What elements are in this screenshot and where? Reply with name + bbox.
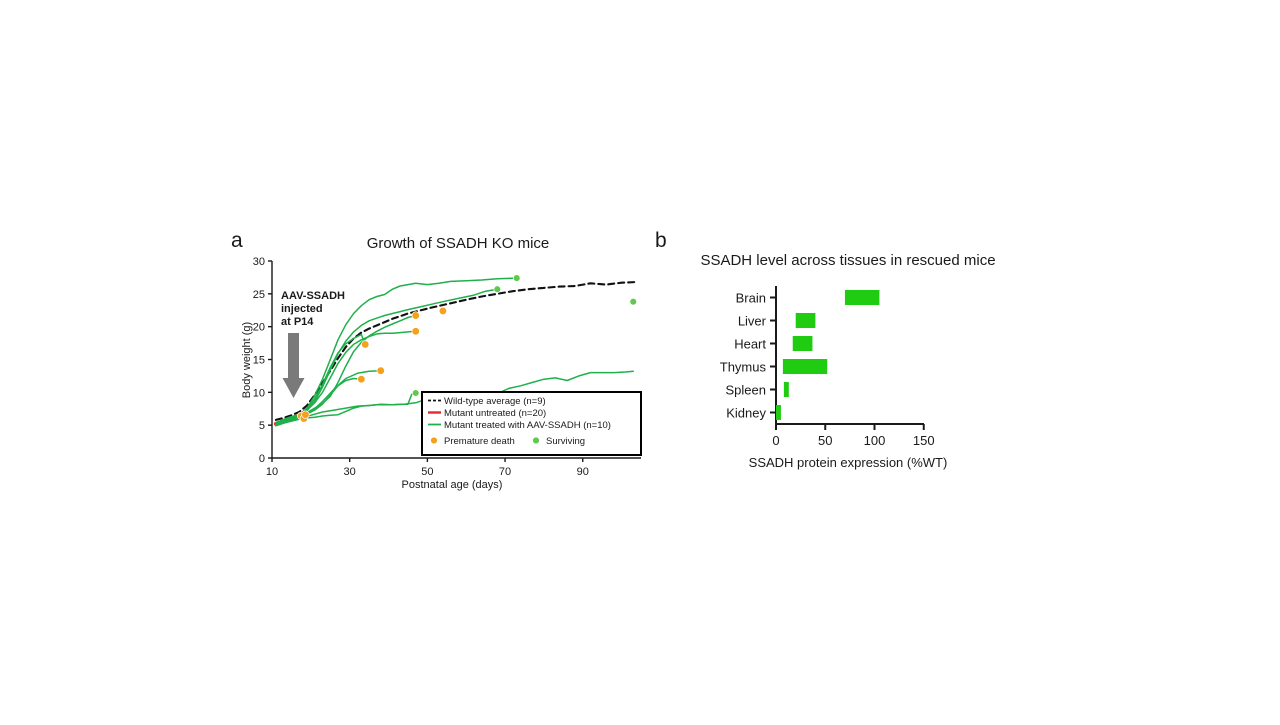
y-tick-label: 30 [253, 256, 265, 268]
legend-item-label: Mutant untreated (n=20) [444, 408, 546, 419]
premature-death-marker [377, 367, 385, 375]
legend-marker-dot [533, 437, 540, 444]
x-tick-label: 10 [266, 466, 278, 478]
panel-a-ylabel: Body weight (g) [241, 322, 253, 398]
panel-b-letter: b [655, 229, 667, 252]
premature-death-marker [412, 312, 420, 320]
legend-item-label: Mutant treated with AAV-SSADH (n=10) [444, 420, 611, 431]
panel-a-xlabel: Postnatal age (days) [402, 479, 503, 491]
premature-death-marker [439, 307, 447, 315]
x-tick-label: 90 [577, 466, 589, 478]
tissue-label: Brain [736, 291, 766, 306]
panel-b-plot: BrainLiverHeartThymusSpleenKidney 050100… [720, 286, 935, 448]
premature-death-marker [412, 327, 420, 335]
range-bar [784, 382, 789, 397]
surviving-marker [630, 298, 637, 305]
panel-a-x-ticks: 1030507090 [266, 458, 589, 478]
series-line [276, 393, 416, 426]
premature-death-marker [302, 411, 310, 419]
panel-a-legend: Wild-type average (n=9)Mutant untreated … [422, 392, 641, 455]
range-bar [845, 290, 879, 305]
x-tick-label: 70 [499, 466, 511, 478]
panel-a-title: Growth of SSADH KO mice [367, 235, 550, 252]
y-tick-label: 0 [259, 453, 265, 465]
legend-item-label: Wild-type average (n=9) [444, 396, 546, 407]
figure-svg: a Growth of SSADH KO mice 051015202530 1… [0, 0, 1280, 720]
y-tick-label: 10 [253, 387, 265, 399]
tissue-label: Kidney [726, 406, 766, 421]
x-tick-label: 30 [344, 466, 356, 478]
panel-b-xlabel: SSADH protein expression (%WT) [749, 455, 948, 470]
y-tick-label: 25 [253, 289, 265, 301]
y-tick-label: 5 [259, 420, 265, 432]
panel-a-y-ticks: 051015202530 [253, 256, 272, 465]
range-bar [793, 336, 813, 351]
x-tick-label: 0 [772, 433, 779, 448]
annotation-line-2: injected [281, 303, 323, 315]
legend-item-label: Premature death [444, 436, 515, 447]
x-tick-label: 150 [913, 433, 935, 448]
premature-death-marker [361, 341, 369, 349]
annotation-line-1: AAV-SSADH [281, 290, 345, 302]
panel-b-y-ticks: BrainLiverHeartThymusSpleenKidney [720, 291, 776, 421]
panel-b-bars [776, 290, 879, 420]
premature-death-marker [358, 375, 366, 383]
panel-b-title: SSADH level across tissues in rescued mi… [700, 252, 995, 269]
x-tick-label: 50 [421, 466, 433, 478]
x-tick-label: 100 [864, 433, 886, 448]
panel-a-annotation: AAV-SSADH injected at P14 [281, 290, 345, 398]
panel-b-x-ticks: 050100150 [772, 424, 934, 448]
y-tick-label: 20 [253, 322, 265, 334]
x-tick-label: 50 [818, 433, 832, 448]
surviving-marker [513, 275, 520, 282]
range-bar [776, 405, 781, 420]
panel-b: b SSADH level across tissues in rescued … [655, 229, 996, 470]
legend-item-label: Surviving [546, 436, 585, 447]
surviving-marker [412, 390, 419, 397]
range-bar [783, 359, 827, 374]
panel-a-letter: a [231, 229, 243, 252]
tissue-label: Liver [738, 314, 767, 329]
tissue-label: Heart [734, 337, 766, 352]
down-arrow-icon [283, 333, 305, 398]
panel-a: a Growth of SSADH KO mice 051015202530 1… [231, 229, 641, 491]
tissue-label: Thymus [720, 360, 767, 375]
range-bar [796, 313, 816, 328]
annotation-line-3: at P14 [281, 316, 314, 328]
surviving-marker [494, 286, 501, 293]
legend-marker-dot [431, 437, 438, 444]
y-tick-label: 15 [253, 355, 265, 367]
tissue-label: Spleen [726, 383, 766, 398]
figure-container: a Growth of SSADH KO mice 051015202530 1… [0, 0, 1280, 720]
